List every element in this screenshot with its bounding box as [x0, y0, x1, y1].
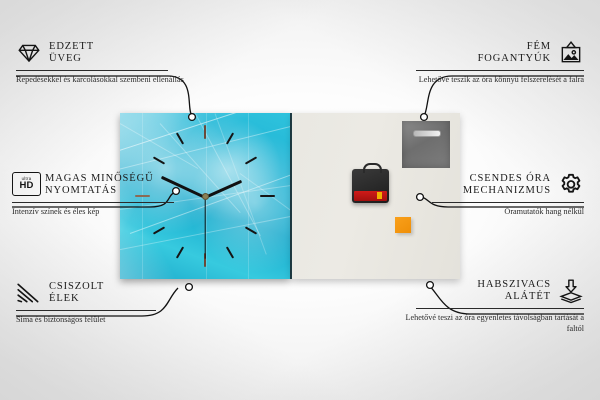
gear-icon [558, 172, 584, 198]
hour-tick [260, 195, 275, 197]
feature-title: HABSZIVACS ALÁTÉT [477, 279, 551, 304]
metal-hanger [402, 121, 450, 168]
hand-cap [202, 193, 209, 200]
mechanism-label [354, 191, 387, 201]
divider [416, 308, 584, 309]
hour-tick [176, 246, 184, 258]
feature-description: Repedésekkel és karcolásokkal szembeni e… [16, 75, 206, 86]
feature-description: Lehetővé teszik az óra könnyű felszerelé… [394, 75, 584, 86]
feature-title: EDZETT ÜVEG [49, 41, 94, 66]
hanger-slot [413, 130, 441, 137]
feature-title: FÉM FOGANTYÚK [478, 41, 551, 66]
divider [416, 70, 584, 71]
feature-description: Intenzív színek és éles kép [12, 207, 202, 218]
divider [432, 202, 584, 203]
feature-print: ultra HD MAGAS MINŐSÉGŰ NYOMTATÁS Intenz… [12, 172, 202, 218]
mechanism-label-accent [377, 192, 382, 199]
feature-title: CSENDES ÓRA MECHANIZMUS [463, 173, 551, 198]
ultra-hd-badge-icon: ultra HD [12, 172, 38, 198]
mechanism-handle [363, 163, 382, 173]
foam-spacer-icon [558, 278, 584, 304]
foam-pad [395, 217, 411, 233]
hour-tick [204, 125, 206, 139]
feature-description: Óramutatók hang nélkül [394, 207, 584, 218]
diamond-icon [16, 40, 42, 66]
hd-badge-main: HD [19, 181, 33, 191]
feature-edges: CSISZOLT ÉLEK Sima és biztonságos felüle… [16, 280, 206, 326]
feature-title: CSISZOLT ÉLEK [49, 281, 104, 306]
feature-description: Sima és biztonságos felület [16, 315, 206, 326]
polished-edge-icon [16, 280, 42, 306]
feature-title: MAGAS MINŐSÉGŰ NYOMTATÁS [45, 173, 154, 198]
divider [12, 202, 174, 203]
hanging-picture-icon [558, 40, 584, 66]
feature-hooks: FÉM FOGANTYÚK Lehetővé teszik az óra kön… [394, 40, 584, 86]
feature-mechanism: CSENDES ÓRA MECHANIZMUS Óramutatók hang … [394, 172, 584, 218]
divider [16, 70, 168, 71]
feature-glass: EDZETT ÜVEG Repedésekkel és karcolásokka… [16, 40, 206, 86]
feature-description: Lehetővé teszi az óra egyenletes távolsá… [394, 313, 584, 334]
clock-mechanism [352, 169, 389, 203]
infographic-canvas: EDZETT ÜVEG Repedésekkel és karcolásokka… [0, 0, 600, 400]
second-hand [204, 197, 205, 259]
divider [16, 310, 156, 311]
feature-foam: HABSZIVACS ALÁTÉT Lehetővé teszi az óra … [394, 278, 584, 334]
